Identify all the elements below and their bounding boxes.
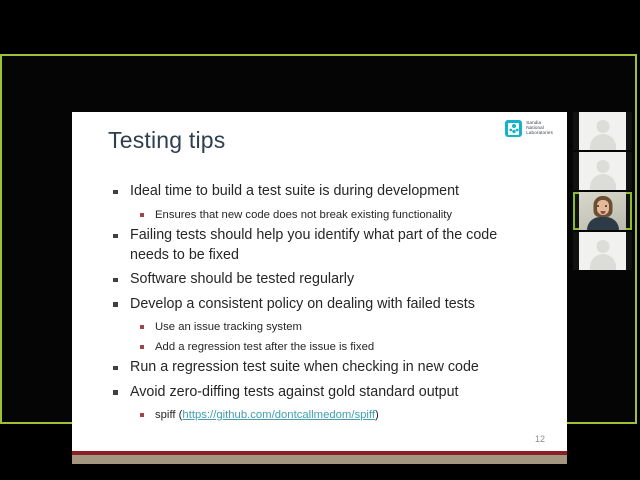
bullet-item: Develop a consistent policy on dealing w… (110, 295, 535, 315)
participant-tile-active-speaker[interactable] (573, 192, 632, 230)
slide-bullet-list: Ideal time to build a test suite is duri… (110, 182, 535, 427)
avatar-placeholder-icon (596, 120, 609, 133)
sandia-logo-wordmark: Sandia National Laboratories (526, 121, 553, 136)
participant-tile[interactable] (573, 152, 632, 190)
avatar-placeholder-icon (590, 254, 616, 270)
bullet-item-with-link: spiff (https://github.com/dontcallmedom/… (110, 407, 535, 424)
bullet-text: Run a regression test suite when checkin… (130, 358, 479, 378)
bullet-item: Avoid zero-diffing tests against gold st… (110, 383, 535, 403)
bullet-item: Add a regression test after the issue is… (110, 339, 535, 356)
bullet-text: Ideal time to build a test suite is duri… (130, 182, 459, 202)
bullet-text: Develop a consistent policy on dealing w… (130, 295, 475, 315)
bullet-text: Failing tests should help you identify w… (130, 226, 535, 265)
participant-tile[interactable] (573, 232, 632, 270)
webcam-person-shoulders (587, 217, 619, 230)
bullet-text: Add a regression test after the issue is… (155, 339, 374, 356)
participant-video-area (579, 192, 626, 230)
sandia-logo-line-3: Laboratories (526, 131, 553, 136)
slide-page-number: 12 (535, 434, 545, 444)
participant-filmstrip[interactable] (573, 112, 632, 270)
bullet-text-group: spiff (https://github.com/dontcallmedom/… (155, 407, 379, 424)
bullet-item: Software should be tested regularly (110, 270, 535, 290)
avatar-placeholder-icon (596, 240, 609, 253)
bullet-item: Ideal time to build a test suite is duri… (110, 182, 535, 202)
participant-video-area (579, 232, 626, 270)
bullet-text: Software should be tested regularly (130, 270, 354, 290)
bullet-item: Failing tests should help you identify w… (110, 226, 535, 265)
bullet-text: Use an issue tracking system (155, 319, 302, 336)
slide-title: Testing tips (108, 127, 225, 154)
sandia-thunderbird-icon (505, 120, 522, 137)
webcam-person-eye-left (597, 205, 599, 207)
screen-share-frame: Testing tips Sandia National Laboratorie… (0, 54, 637, 424)
bullet-item: Ensures that new code does not break exi… (110, 207, 535, 224)
bullet-text-suffix: ) (375, 409, 379, 421)
bullet-text: Ensures that new code does not break exi… (155, 207, 452, 224)
bullet-item: Run a regression test suite when checkin… (110, 358, 535, 378)
webcam-feed (579, 192, 626, 230)
avatar-placeholder-icon (596, 160, 609, 173)
participant-video-area (579, 152, 626, 190)
avatar-placeholder-icon (590, 174, 616, 190)
bullet-text-prefix: spiff ( (155, 409, 182, 421)
webcam-person-eye-right (605, 205, 607, 207)
avatar-placeholder-icon (590, 134, 616, 150)
sandia-national-laboratories-logo: Sandia National Laboratories (505, 120, 553, 137)
bullet-text: Avoid zero-diffing tests against gold st… (130, 383, 459, 403)
participant-video-area (579, 112, 626, 150)
video-conference-stage: Testing tips Sandia National Laboratorie… (0, 0, 640, 480)
slide-footer-accent-bar-tan (72, 455, 567, 464)
bullet-item: Use an issue tracking system (110, 319, 535, 336)
participant-tile[interactable] (573, 112, 632, 150)
spiff-repository-link[interactable]: https://github.com/dontcallmedom/spiff (182, 409, 375, 421)
presentation-slide[interactable]: Testing tips Sandia National Laboratorie… (72, 112, 567, 464)
